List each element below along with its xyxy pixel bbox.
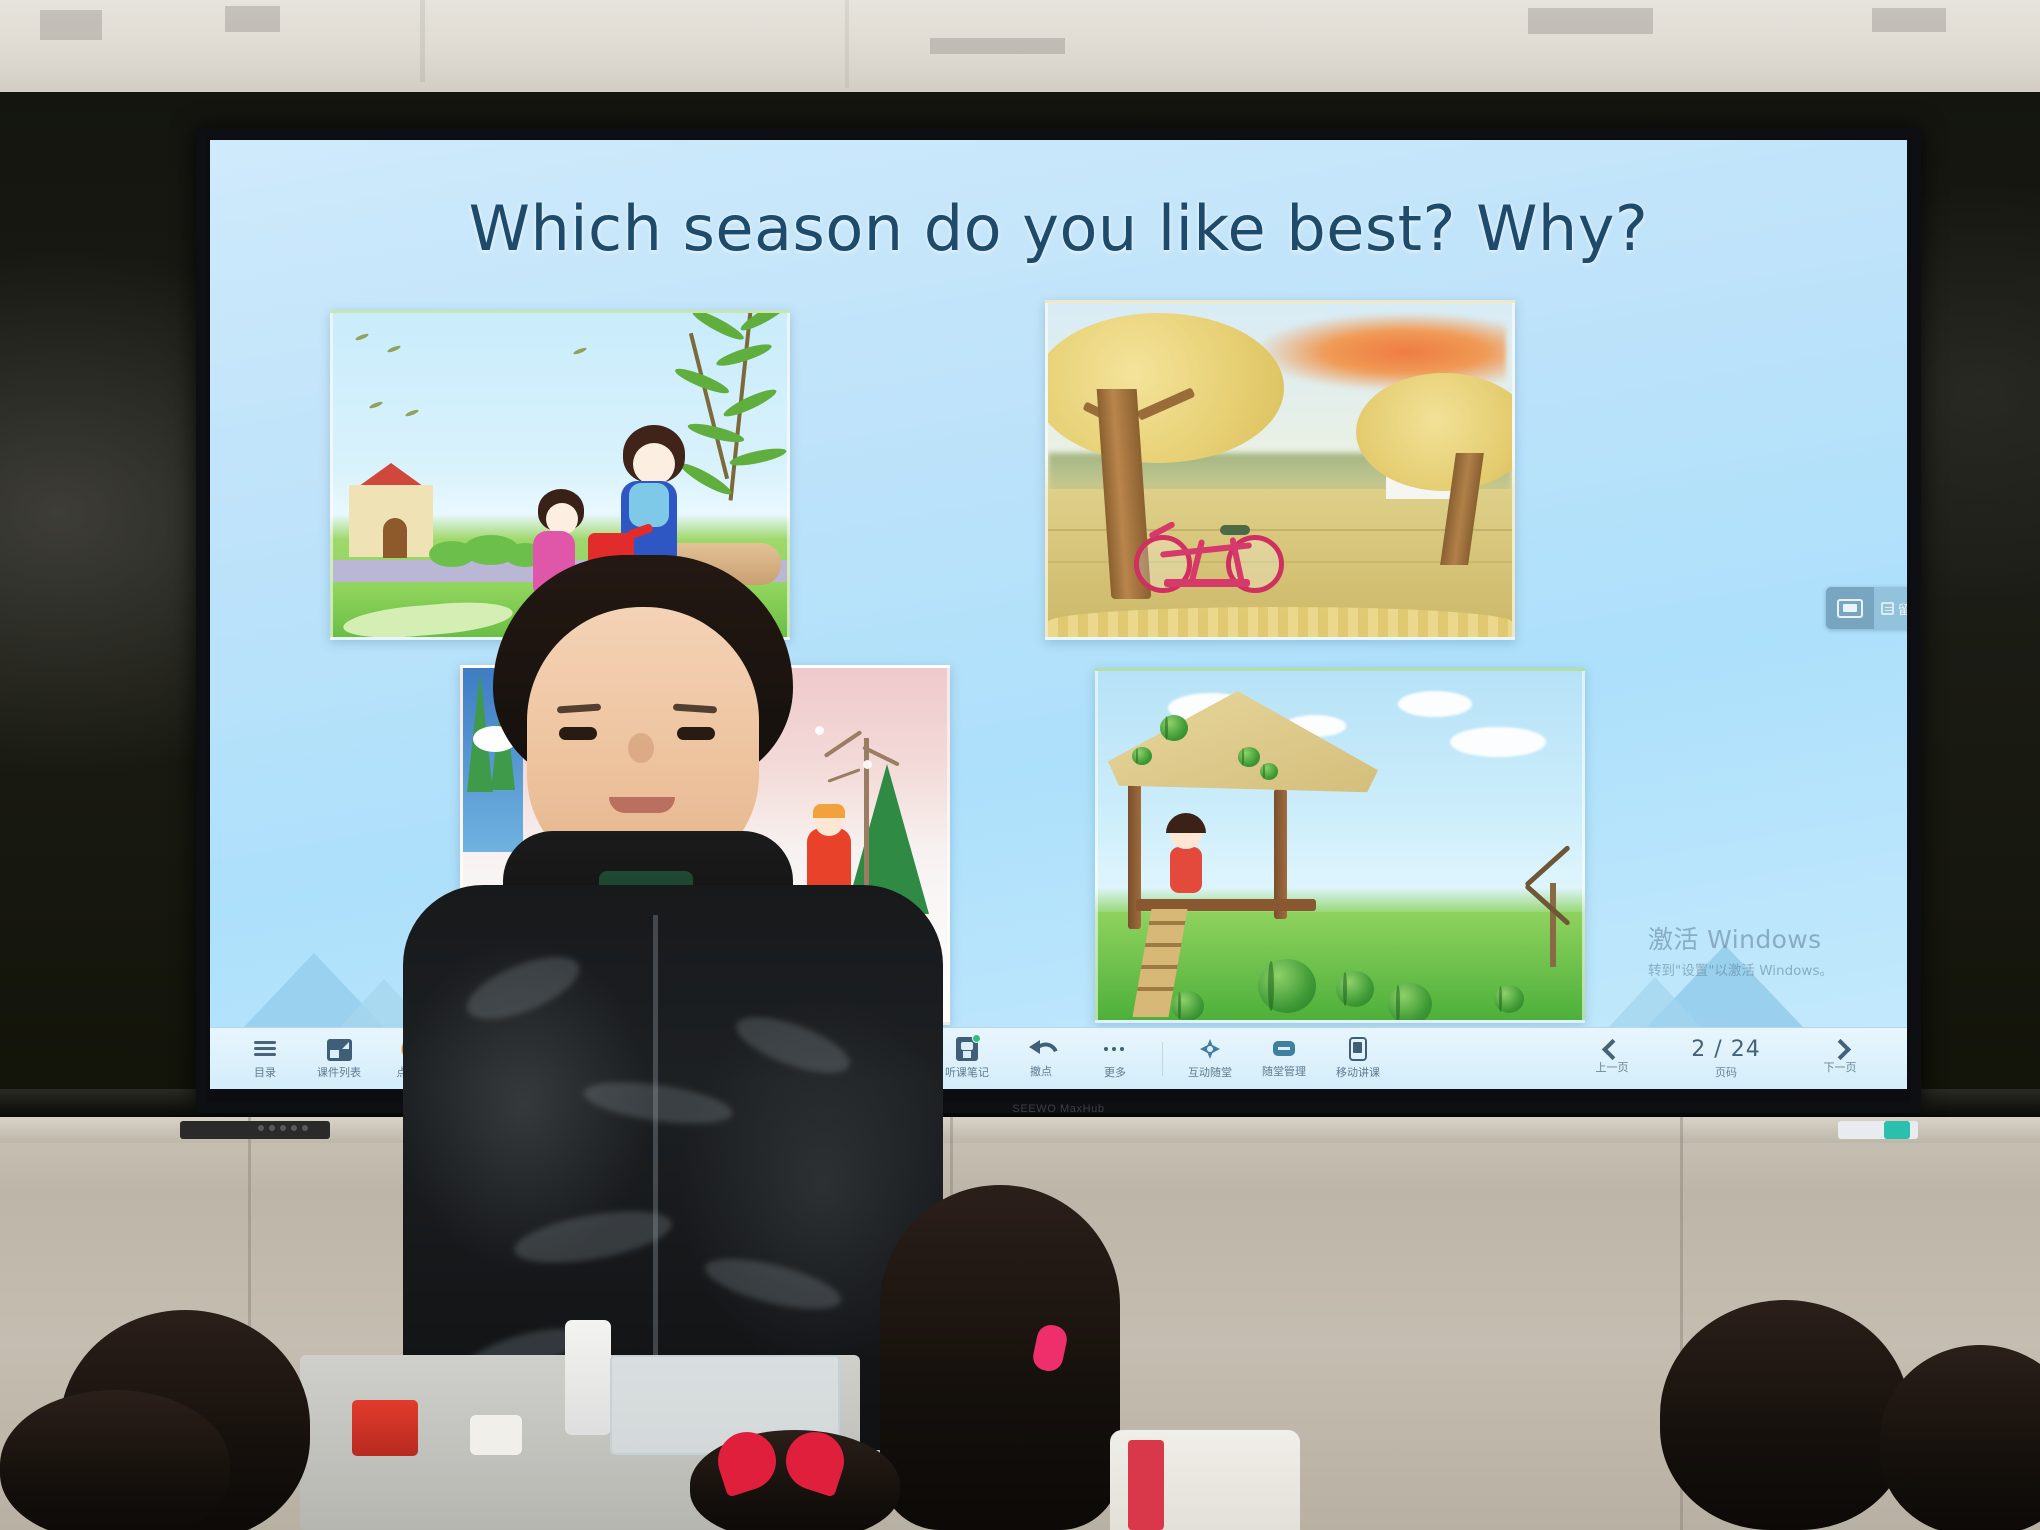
screen-share-icon[interactable]: [1826, 587, 1874, 629]
mobile-teach-button[interactable]: 移动讲课: [1321, 1037, 1395, 1080]
prev-page-label: 上一页: [1596, 1059, 1629, 1075]
toolbar-right-group: 听课笔记 撤点 更多 互动随堂: [930, 1037, 1395, 1080]
undo-icon: [1028, 1038, 1054, 1060]
presenting-student: [385, 555, 955, 1445]
move-icon: [1198, 1037, 1222, 1061]
page-number: 2 / 24: [1691, 1037, 1760, 1062]
student-head: [0, 1390, 230, 1530]
slide-icon: [327, 1039, 352, 1061]
chevron-right-icon: [1829, 1039, 1850, 1060]
prev-page-button[interactable]: 上一页: [1573, 1042, 1651, 1075]
undo-button[interactable]: 撤点: [1004, 1038, 1078, 1079]
floating-widget-toolbar[interactable]: 留作业 查看: [1826, 587, 1907, 629]
picture-autumn[interactable]: [1045, 300, 1515, 640]
slide-list-label: 课件列表: [317, 1064, 361, 1080]
assignment-button[interactable]: 留作业: [1874, 587, 1907, 629]
slide-title: Which season do you like best? Why?: [210, 192, 1907, 265]
bicycle: [1134, 535, 1284, 591]
upper-wall: [0, 0, 2040, 95]
device-brand: SEEWO MaxHub: [1012, 1103, 1104, 1115]
mobile-teach-label: 移动讲课: [1336, 1064, 1380, 1080]
hair-bow: [718, 1432, 844, 1492]
picture-summer[interactable]: [1095, 668, 1585, 1023]
more-label: 更多: [1104, 1064, 1126, 1080]
save-note-icon: [954, 1037, 980, 1061]
desk-white-object: [470, 1415, 522, 1455]
more-icon: [1102, 1037, 1128, 1061]
assignment-icon: [1881, 602, 1894, 615]
slide-list-button[interactable]: 课件列表: [302, 1038, 376, 1080]
menu-icon: [252, 1037, 278, 1061]
page-label: 页码: [1715, 1064, 1737, 1080]
wall-switch-indicator: [1884, 1121, 1910, 1139]
class-manage-label: 随堂管理: [1262, 1063, 1306, 1079]
chevron-left-icon: [1601, 1039, 1622, 1060]
phone-icon: [1345, 1037, 1371, 1061]
student-head: [1660, 1300, 1910, 1530]
menu-button[interactable]: 目录: [228, 1037, 302, 1080]
interactive-button[interactable]: 互动随堂: [1173, 1037, 1247, 1080]
class-manage-button[interactable]: 随堂管理: [1247, 1038, 1321, 1079]
interactive-label: 互动随堂: [1188, 1064, 1232, 1080]
page-indicator[interactable]: 2 / 24 页码: [1651, 1037, 1801, 1080]
next-page-label: 下一页: [1824, 1059, 1857, 1075]
classroom-scene: SEEWO MaxHub Which season do you like be…: [0, 0, 2040, 1530]
sensor-leds: [258, 1123, 308, 1133]
desk-bottle: [565, 1320, 611, 1435]
student-head: [880, 1185, 1120, 1530]
uniform-stripe: [1128, 1440, 1164, 1530]
next-page-button[interactable]: 下一页: [1801, 1042, 1879, 1075]
toolbar-divider: [1162, 1042, 1163, 1076]
menu-label: 目录: [254, 1064, 276, 1080]
desk-red-object: [352, 1400, 418, 1456]
assignment-label: 留作业: [1898, 599, 1907, 618]
mountain-decor: [1609, 977, 1701, 1027]
pager[interactable]: 上一页 2 / 24 页码 下一页: [1573, 1037, 1879, 1080]
undo-label: 撤点: [1030, 1063, 1052, 1079]
more-button[interactable]: 更多: [1078, 1037, 1152, 1080]
timer-icon: [1271, 1038, 1297, 1060]
